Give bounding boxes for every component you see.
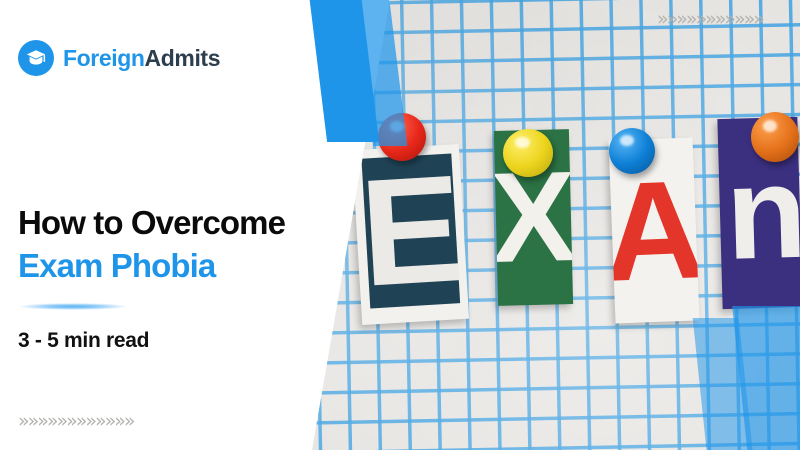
chevron-strip-top-right: »»»»»»»»»»» [657, 8, 777, 30]
title-line-1: How to Overcome [18, 204, 285, 243]
brand-name: ForeignAdmits [63, 45, 220, 72]
letter-glyph-n: n [724, 146, 800, 280]
title-line-2: Exam Phobia [18, 247, 285, 286]
letter-glyph-a: A [609, 159, 700, 303]
letter-tile-e: E [352, 144, 469, 325]
pushpin-orange-icon [751, 112, 799, 162]
graduation-cap-icon [18, 40, 54, 76]
pushpin-yellow-icon [503, 129, 553, 177]
page-title: How to Overcome Exam Phobia [18, 204, 285, 286]
brand-logo[interactable]: ForeignAdmits [18, 40, 220, 76]
brand-name-part2: Admits [145, 45, 221, 71]
pushpin-blue-icon [609, 128, 655, 174]
letter-glyph-e: E [361, 153, 460, 308]
chevron-strip-bottom-left: »»»»»»»»»»»» [18, 410, 146, 432]
brand-name-part1: Foreign [63, 45, 145, 71]
read-time-label: 3 - 5 min read [18, 329, 149, 353]
cover-image: E X A n »»»»»»»»»»» [0, 0, 800, 450]
title-divider [18, 303, 128, 310]
